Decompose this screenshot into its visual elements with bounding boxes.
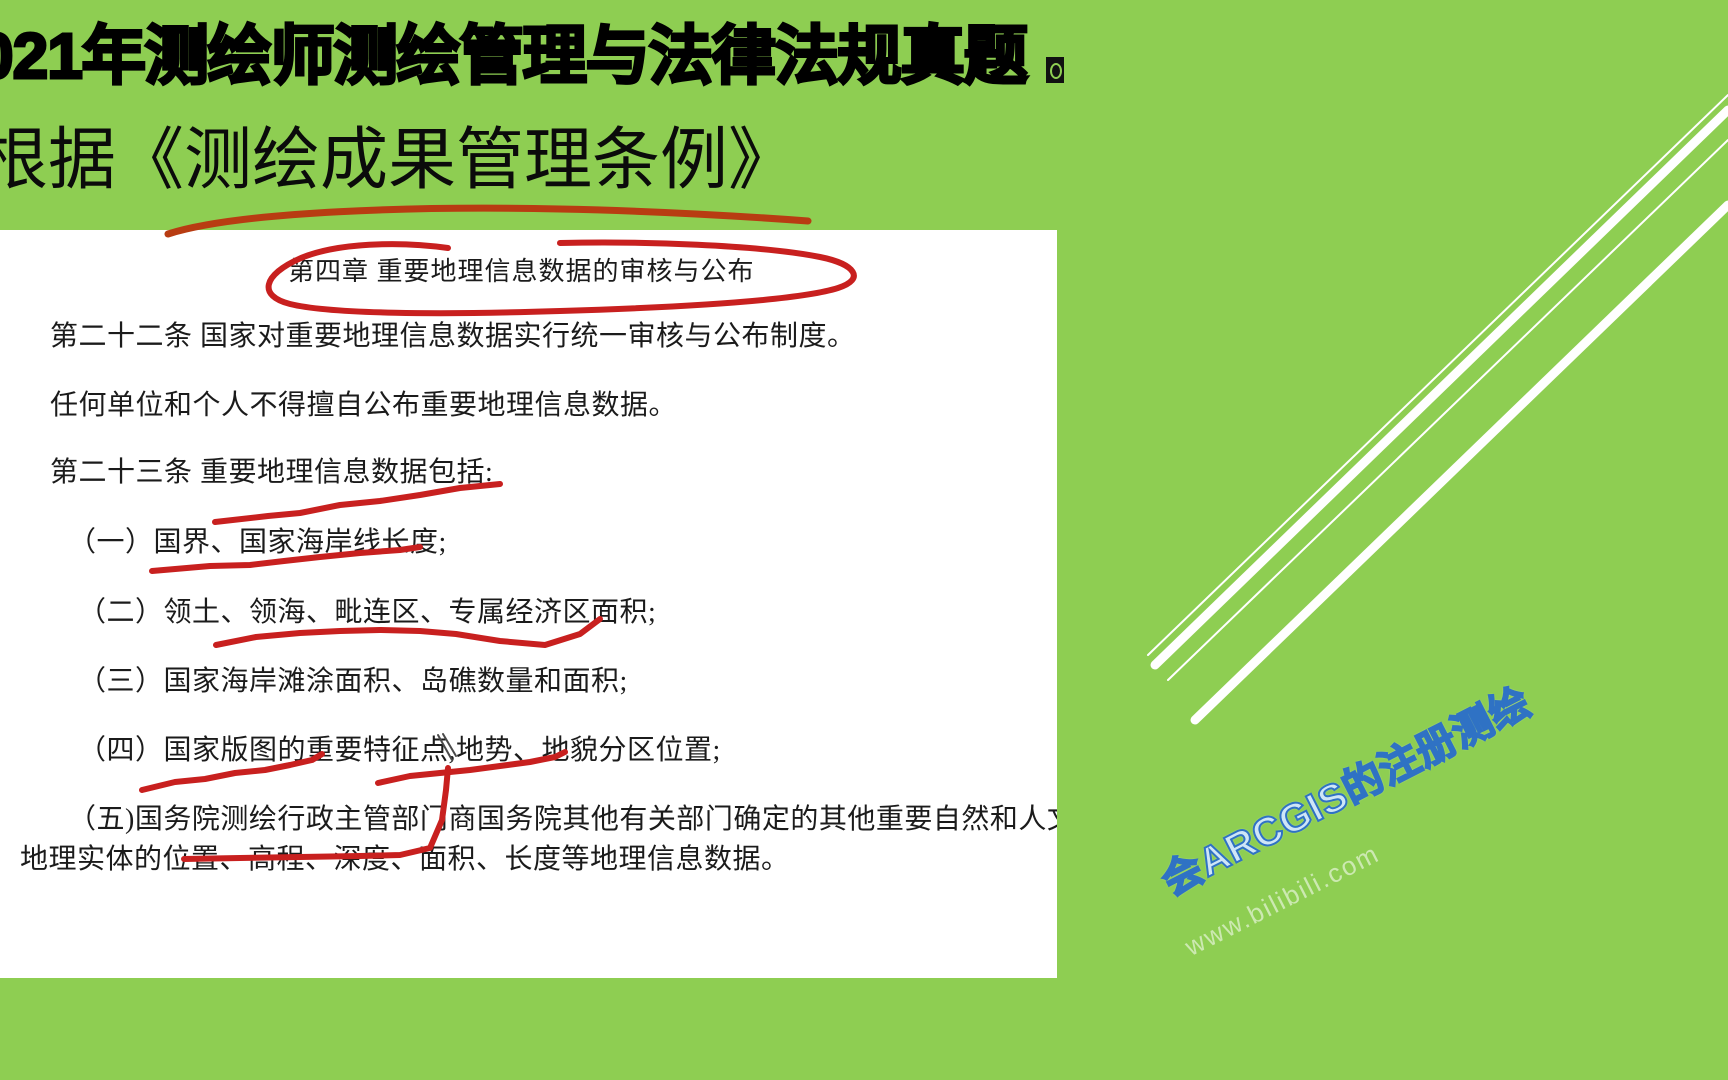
document-paragraph: 任何单位和个人不得擅自公布重要地理信息数据。 (50, 383, 677, 423)
page-subtitle: 根据《测绘成果管理条例》 (0, 126, 796, 194)
document-list-item-continuation: 地理实体的位置、高程、深度、面积、长度等地理信息数据。 (20, 837, 790, 877)
page-title: 021年测绘师测绘管理与法律法规真题 (0, 24, 1027, 88)
document-paragraph: 第二十三条 重要地理信息数据包括: (50, 450, 493, 490)
document-list-item: （一）国界、国家海岸线长度; (68, 520, 447, 560)
document-list-item: （三）国家海岸滩涂面积、岛礁数量和面积; (78, 659, 628, 699)
slide-canvas: 021年测绘师测绘管理与法律法规真题 根据《测绘成果管理条例》 第四章 重要地理… (0, 0, 1728, 1080)
document-chapter-heading: 第四章 重要地理信息数据的审核与公布 (288, 251, 755, 288)
document-list-item: （四）国家版图的重要特征点,地势、地貌分区位置; (78, 728, 721, 768)
document-paragraph: 第二十二条 国家对重要地理信息数据实行统一审核与公布制度。 (50, 314, 856, 354)
document-body: 第四章 重要地理信息数据的审核与公布 第二十二条 国家对重要地理信息数据实行统一… (0, 230, 1057, 978)
banner-headings: 021年测绘师测绘管理与法律法规真题 根据《测绘成果管理条例》 (0, 0, 1060, 230)
document-list-item: （五)国务院测绘行政主管部门商国务院其他有关部门确定的其他重要自然和人文 (68, 797, 1057, 837)
document-panel: 第四章 重要地理信息数据的审核与公布 第二十二条 国家对重要地理信息数据实行统一… (0, 230, 1057, 978)
document-list-item: （二）领土、领海、毗连区、专属经济区面积; (78, 590, 656, 630)
